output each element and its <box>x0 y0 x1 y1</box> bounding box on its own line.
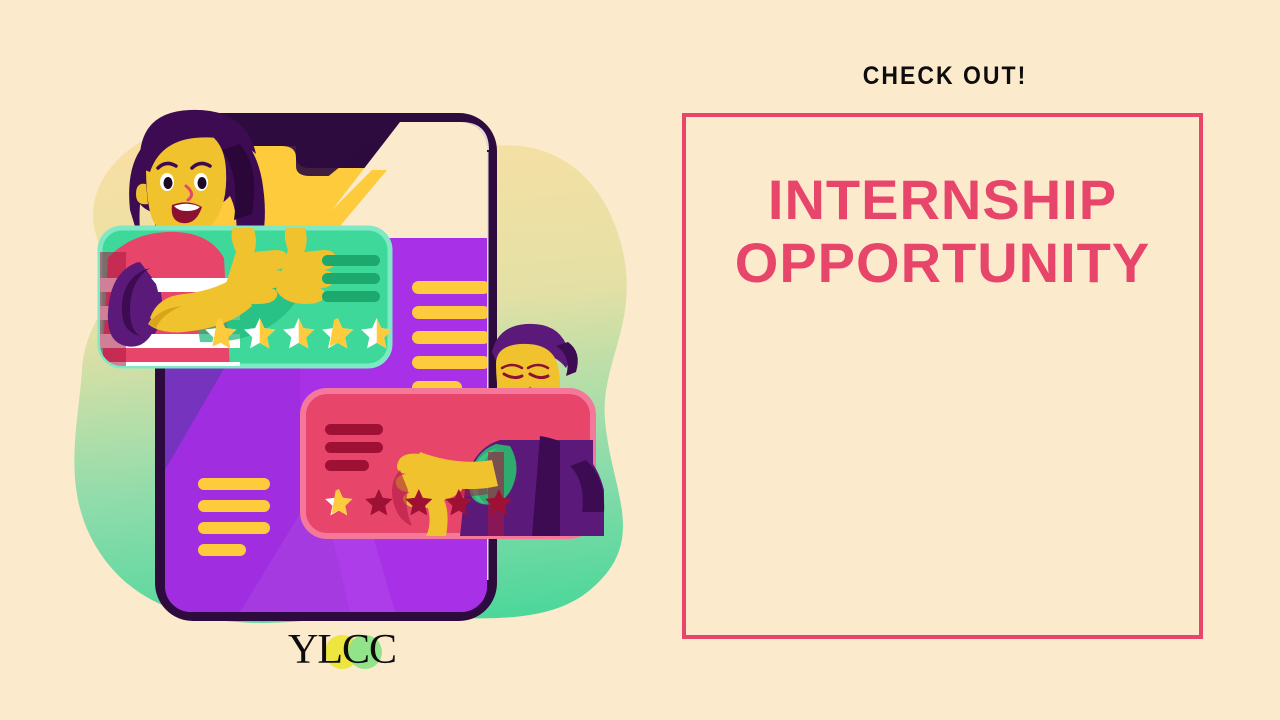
logo-text-dark: YL <box>288 627 342 673</box>
headline-line-2: OPPORTUNITY <box>686 232 1199 295</box>
page-title: INTERNSHIP OPPORTUNITY <box>686 169 1199 294</box>
headline-line-1: INTERNSHIP <box>686 169 1199 232</box>
logo-wrap: YLCC <box>288 629 396 671</box>
headline-box: INTERNSHIP OPPORTUNITY <box>682 113 1203 639</box>
positive-card-lines <box>322 255 380 302</box>
eyebrow-check-out: CHECK OUT! <box>703 62 1187 91</box>
logo-text-c2: C <box>369 627 396 673</box>
poster-canvas: YLCC CHECK OUT! INTERNSHIP OPPORTUNITY <box>0 0 1280 720</box>
negative-review-card <box>303 391 600 550</box>
logo-text: YLCC <box>288 627 396 673</box>
logo-ylcc[interactable]: YLCC <box>262 622 422 678</box>
illustration-review-phone <box>0 0 680 720</box>
positive-review-card <box>100 219 392 374</box>
logo-text-c1: C <box>342 627 369 673</box>
